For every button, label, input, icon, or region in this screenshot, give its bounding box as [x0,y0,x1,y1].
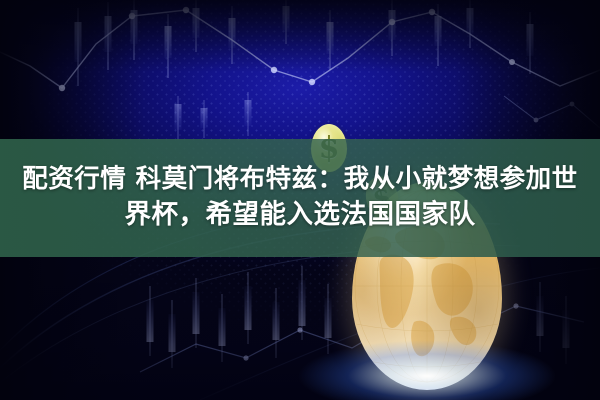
headline-band: 配资行情 科莫门将布特兹：我从小就梦想参加世 界杯，希望能入选法国国家队 [0,139,600,257]
headline-line-2: 界杯，希望能入选法国国家队 [125,198,476,233]
headline-line-1: 配资行情 科莫门将布特兹：我从小就梦想参加世 [22,163,577,197]
news-thumbnail-banner: $ $ 配资行情 科莫门将布特兹：我从小就梦想参加世 界杯，希望能入选法国国家队 [0,0,600,400]
